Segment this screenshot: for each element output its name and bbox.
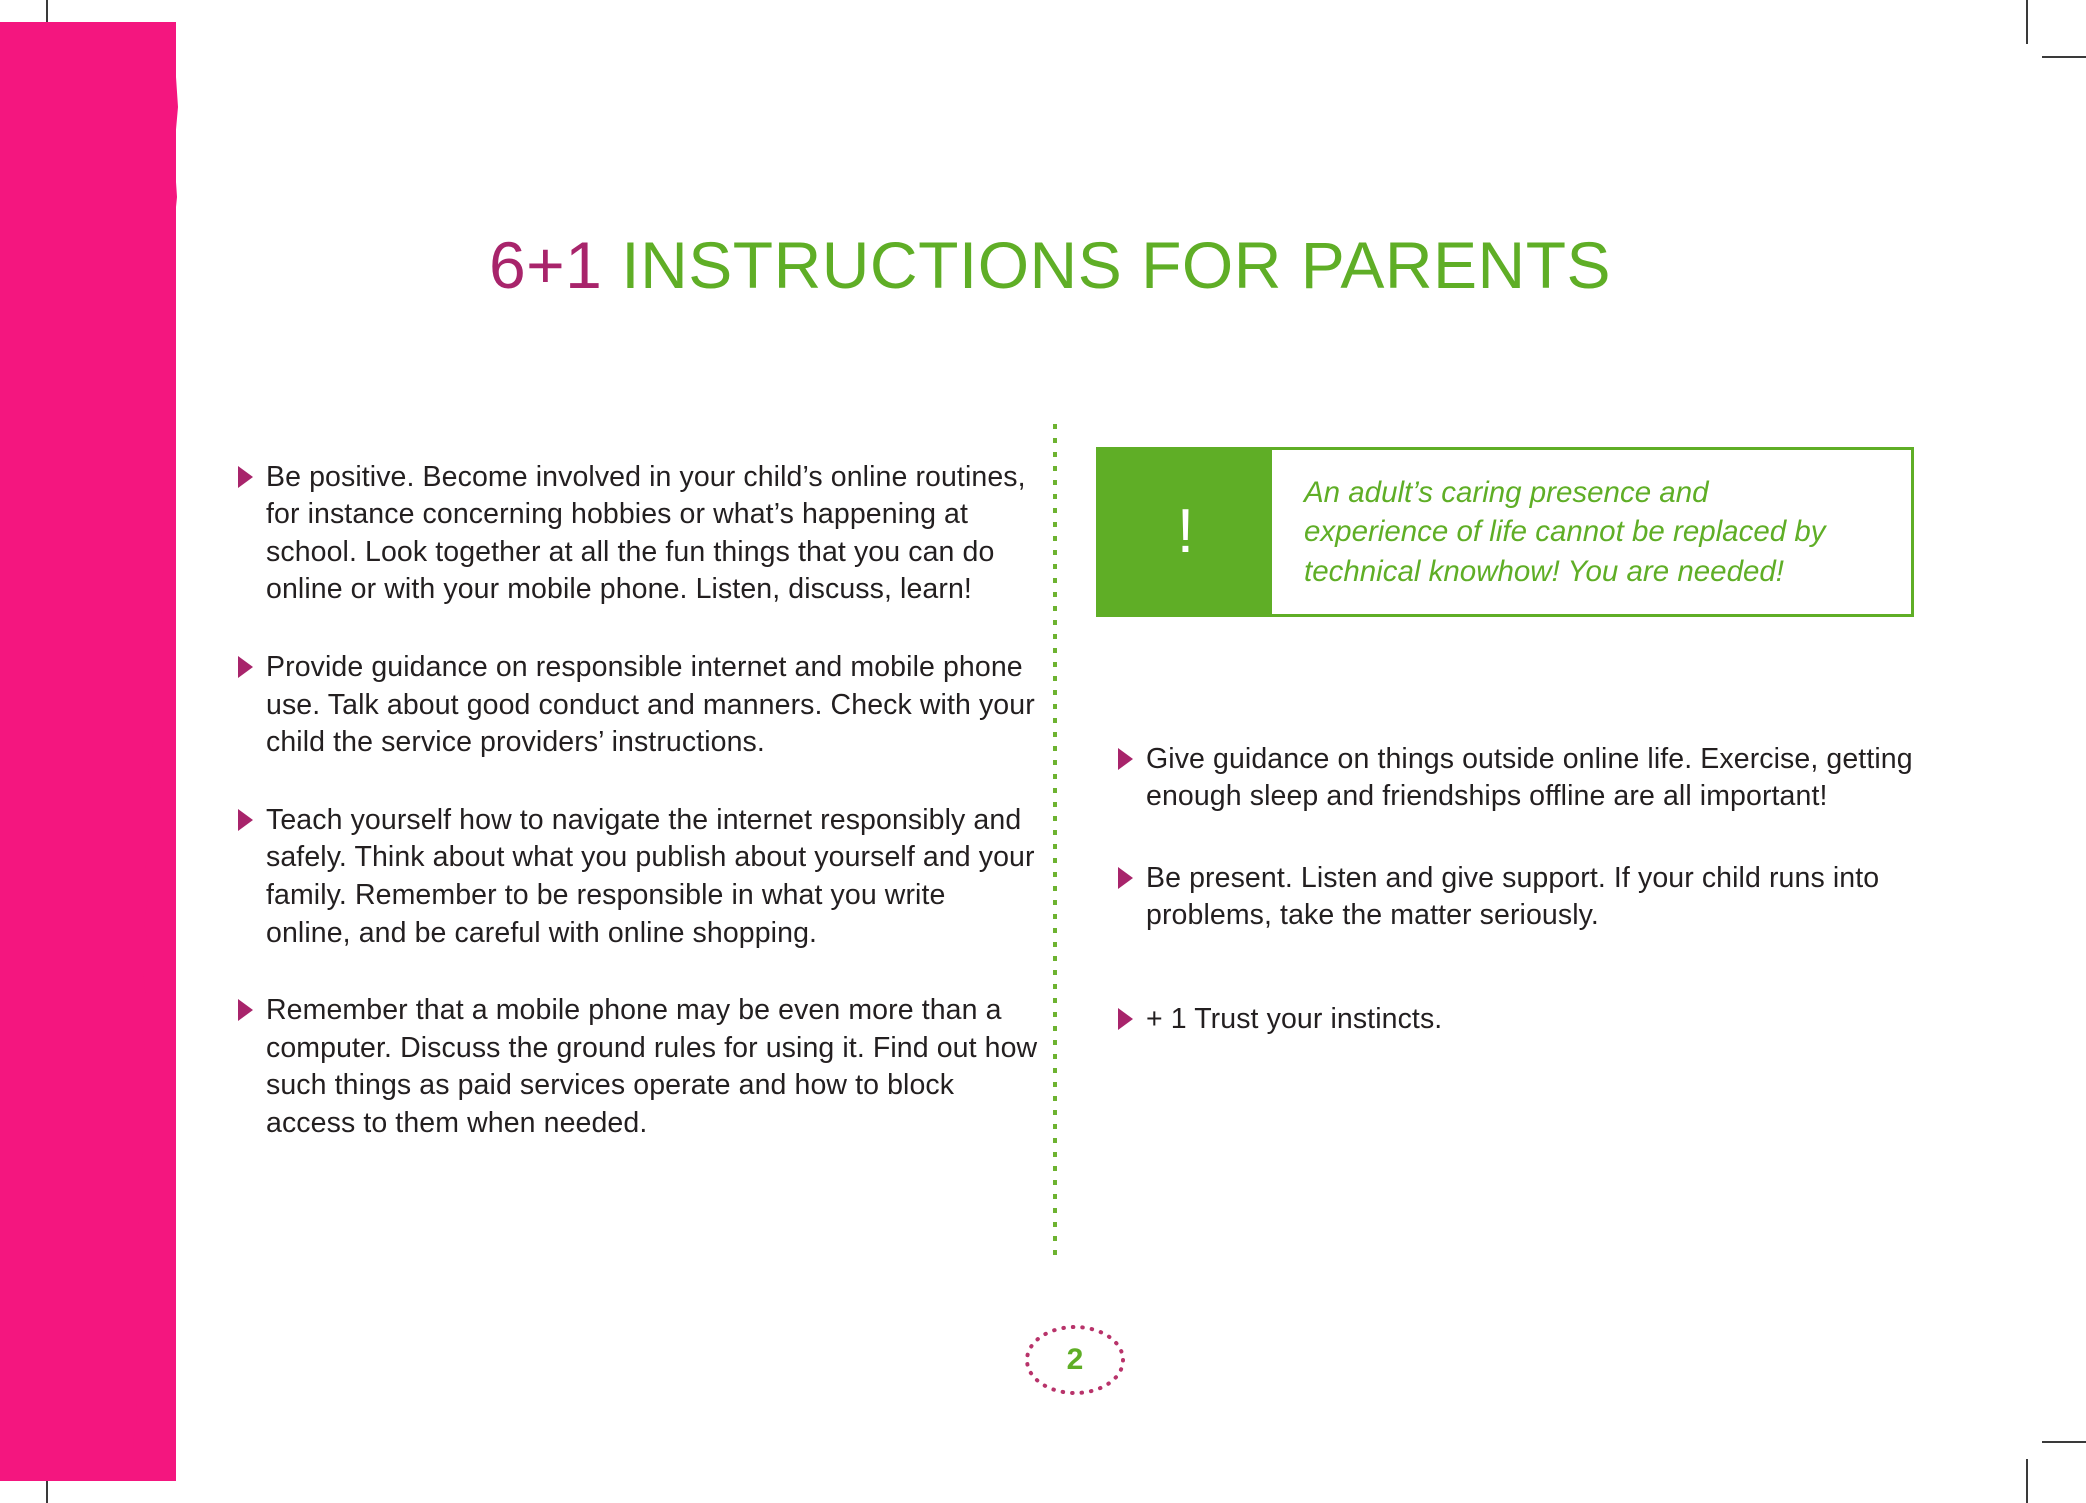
list-item-text: Be positive. Become involved in your chi…	[266, 461, 1026, 606]
callout-text-line-2: experience of life cannot be replaced by	[1304, 512, 1885, 551]
page-number-badge: 2	[1023, 1323, 1127, 1397]
page-title: 6+1 INSTRUCTIONS FOR PARENTS	[170, 232, 1930, 298]
triangle-bullet-icon	[238, 999, 253, 1021]
triangle-bullet-icon	[1118, 748, 1133, 770]
list-item-text: Provide guidance on responsible internet…	[266, 651, 1035, 758]
list-item: Be positive. Become involved in your chi…	[238, 459, 1038, 609]
list-item-text: Give guidance on things outside online l…	[1146, 743, 1913, 813]
page-title-prefix: 6+1	[489, 228, 602, 302]
document-page: 6+1 INSTRUCTIONS FOR PARENTS Be positive…	[0, 0, 2086, 1503]
list-item: Provide guidance on responsible internet…	[238, 649, 1038, 762]
page-number-value: 2	[1067, 1345, 1084, 1375]
triangle-bullet-icon	[238, 809, 253, 831]
list-item: + 1 Trust your instincts.	[1118, 1001, 1928, 1039]
crop-mark-bottom-right-horizontal	[2042, 1441, 2086, 1443]
callout-text: An adult’s caring presence and experienc…	[1272, 450, 1911, 614]
callout-box: ! An adult’s caring presence and experie…	[1096, 447, 1914, 617]
list-item: Be present. Listen and give support. If …	[1118, 860, 1928, 935]
list-item: Give guidance on things outside online l…	[1118, 741, 1928, 816]
right-text-column: Give guidance on things outside online l…	[1118, 712, 1928, 1083]
callout-text-line-3: technical knowhow! You are needed!	[1304, 552, 1885, 591]
list-item: Remember that a mobile phone may be even…	[238, 992, 1038, 1142]
list-item-text: Teach yourself how to navigate the inter…	[266, 804, 1035, 949]
callout-text-line-1: An adult’s caring presence and	[1304, 473, 1885, 512]
triangle-bullet-icon	[1118, 1008, 1133, 1030]
left-text-column: Be positive. Become involved in your chi…	[238, 430, 1038, 1183]
list-item-text: + 1 Trust your instincts.	[1146, 1003, 1442, 1035]
list-item-text: Be present. Listen and give support. If …	[1146, 862, 1879, 932]
page-title-main: INSTRUCTIONS FOR PARENTS	[602, 228, 1611, 302]
triangle-bullet-icon	[238, 466, 253, 488]
crop-mark-bottom-right-vertical	[2026, 1459, 2028, 1503]
callout-icon-panel: !	[1099, 450, 1272, 614]
list-item-text: Remember that a mobile phone may be even…	[266, 994, 1037, 1139]
crop-mark-top-right-horizontal	[2042, 56, 2086, 58]
triangle-bullet-icon	[1118, 867, 1133, 889]
column-divider	[1053, 424, 1057, 1258]
triangle-bullet-icon	[238, 656, 253, 678]
list-item: Teach yourself how to navigate the inter…	[238, 802, 1038, 952]
crop-mark-top-right-vertical	[2026, 0, 2028, 44]
exclamation-icon: !	[1177, 501, 1194, 563]
